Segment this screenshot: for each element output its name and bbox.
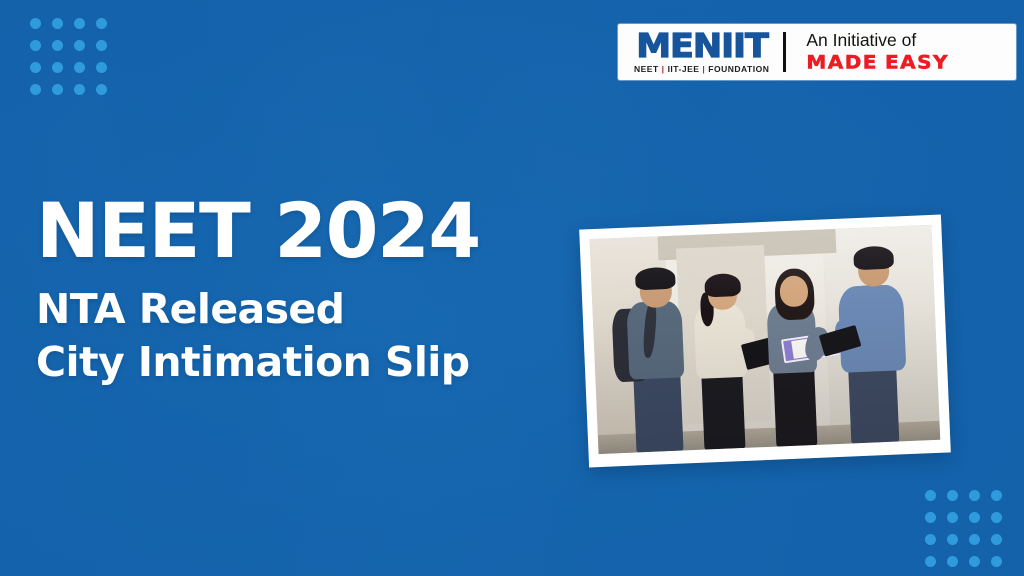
- initiative-text: An Initiative of: [806, 31, 1016, 50]
- decor-dot: [74, 62, 85, 73]
- decor-dot: [52, 62, 63, 73]
- decor-dot: [96, 84, 107, 95]
- decor-dot: [74, 84, 85, 95]
- made-easy-wordmark: MADEEASY: [806, 52, 1016, 71]
- tagline-separator: |: [702, 64, 705, 74]
- meniit-wordmark: MENIIT: [636, 30, 768, 61]
- subtitle-line-2: City Intimation Slip: [36, 336, 480, 389]
- dot-grid-top-left: [30, 18, 107, 95]
- decor-dot: [947, 534, 958, 545]
- decor-dot: [74, 18, 85, 29]
- decor-dot: [74, 40, 85, 51]
- decor-dot: [30, 84, 41, 95]
- decor-dot: [925, 556, 936, 567]
- made-easy-word-made: MADE: [806, 51, 878, 73]
- meniit-logo: MENIIT NEET|IIT-JEE|FOUNDATION: [618, 30, 783, 74]
- decor-dot: [969, 534, 980, 545]
- decor-dot: [30, 62, 41, 73]
- decor-dot: [925, 534, 936, 545]
- decor-dot: [969, 556, 980, 567]
- decor-dot: [96, 62, 107, 73]
- made-easy-word-easy: EASY: [885, 51, 949, 73]
- meniit-tagline: NEET|IIT-JEE|FOUNDATION: [634, 64, 769, 74]
- decor-dot: [52, 18, 63, 29]
- decor-dot: [947, 512, 958, 523]
- decor-dot: [991, 556, 1002, 567]
- made-easy-attribution: An Initiative of MADEEASY: [786, 31, 1016, 72]
- tagline-part-neet: NEET: [634, 64, 659, 74]
- decor-dot: [969, 490, 980, 501]
- decor-dot: [52, 84, 63, 95]
- decor-dot: [96, 18, 107, 29]
- photo-shading-overlay: [590, 225, 941, 454]
- decor-dot: [947, 556, 958, 567]
- decor-dot: [969, 512, 980, 523]
- tagline-separator: |: [662, 64, 665, 74]
- decor-dot: [947, 490, 958, 501]
- promo-banner: MENIIT NEET|IIT-JEE|FOUNDATION An Initia…: [0, 0, 1024, 576]
- decor-dot: [30, 18, 41, 29]
- students-photo: [590, 225, 941, 454]
- tagline-part-foundation: FOUNDATION: [708, 64, 769, 74]
- decor-dot: [925, 490, 936, 501]
- decor-dot: [991, 534, 1002, 545]
- subtitle-line-1: NTA Released: [36, 283, 480, 336]
- decor-dot: [991, 490, 1002, 501]
- tagline-part-iitjee: IIT-JEE: [668, 64, 700, 74]
- dot-grid-bottom-right: [925, 490, 1002, 567]
- logo-bar: MENIIT NEET|IIT-JEE|FOUNDATION An Initia…: [618, 24, 1016, 80]
- decor-dot: [96, 40, 107, 51]
- photo-frame: [579, 215, 951, 468]
- decor-dot: [925, 512, 936, 523]
- decor-dot: [30, 40, 41, 51]
- decor-dot: [991, 512, 1002, 523]
- decor-dot: [52, 40, 63, 51]
- page-title: NEET 2024: [36, 193, 480, 269]
- headline-block: NEET 2024 NTA Released City Intimation S…: [36, 193, 480, 390]
